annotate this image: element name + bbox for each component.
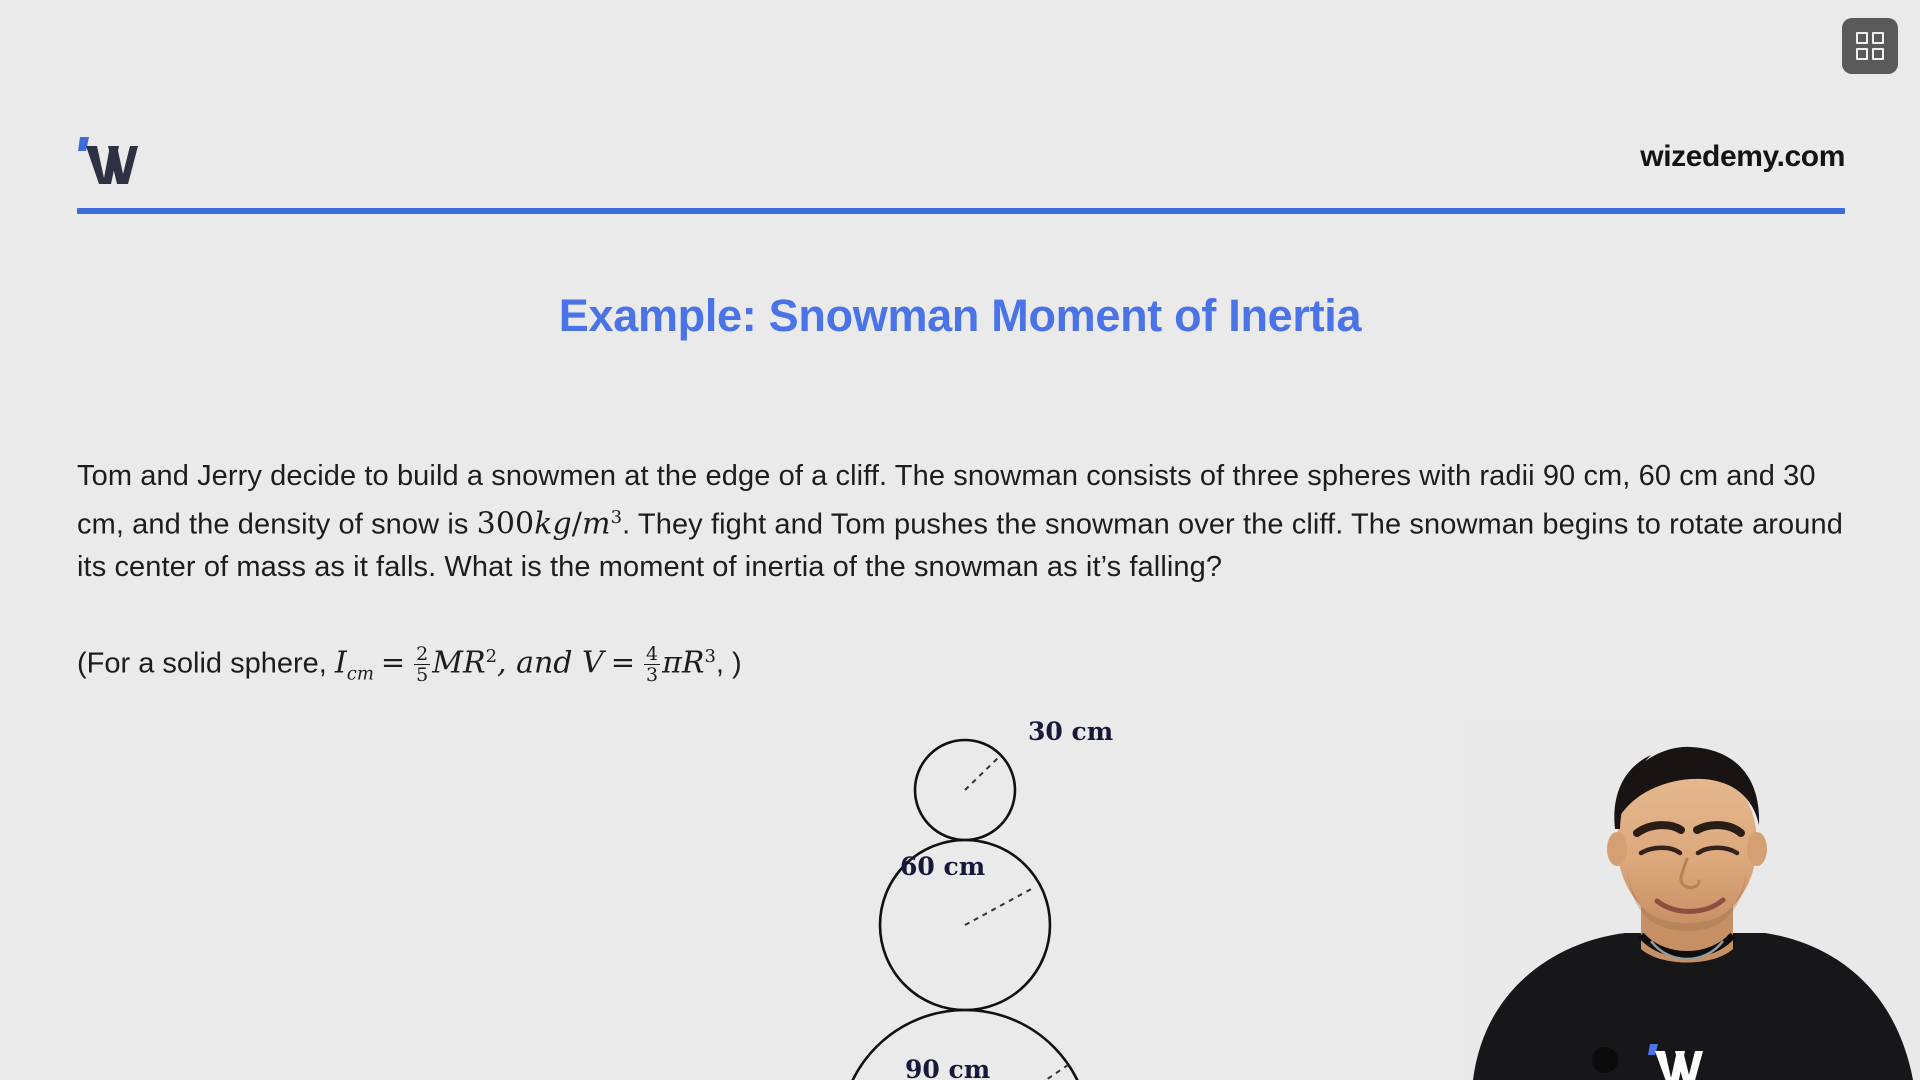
- problem-statement: Tom and Jerry decide to build a snowmen …: [77, 455, 1847, 588]
- density-unit-denominator: m: [582, 507, 611, 542]
- density-slash: /: [572, 507, 582, 542]
- formula-tail-text: , ): [716, 647, 742, 679]
- inertia-fraction-numerator: 2: [414, 644, 430, 665]
- dimension-label-60cm: 60 cm: [900, 852, 985, 881]
- inertia-exponent: 2: [486, 646, 497, 667]
- lecture-slide: wizedemy.com Example: Snowman Moment of …: [0, 0, 1920, 1080]
- shirt-wizedemy-w-logo-icon: [1643, 1042, 1713, 1080]
- volume-exponent: 3: [704, 646, 715, 667]
- density-unit-numerator: kg: [534, 507, 572, 542]
- inertia-fraction: 25: [414, 644, 430, 686]
- page-title: Example: Snowman Moment of Inertia: [0, 290, 1920, 342]
- formula-lead-text: (For a solid sphere,: [77, 647, 335, 679]
- volume-body: R: [682, 645, 705, 680]
- wizedemy-w-logo-icon: [77, 134, 139, 186]
- slide-body: Tom and Jerry decide to build a snowmen …: [77, 455, 1847, 695]
- volume-fraction-denominator: 3: [644, 664, 660, 686]
- volume-fraction: 43: [644, 644, 660, 686]
- density-value: 300: [477, 507, 535, 542]
- formula-conjunction: , and: [497, 645, 582, 680]
- dimension-label-90cm: 90 cm: [905, 1055, 990, 1080]
- inertia-subscript: cm: [347, 663, 374, 684]
- grid-2x2-icon: [1856, 32, 1884, 60]
- volume-fraction-numerator: 4: [644, 644, 660, 665]
- grid-view-button[interactable]: [1842, 18, 1898, 74]
- slide-header: wizedemy.com: [77, 128, 1845, 220]
- radius-line-medium: [965, 887, 1035, 925]
- volume-equals-sign: =: [611, 645, 635, 679]
- volume-symbol: V: [582, 645, 604, 680]
- dimension-label-30cm: 30 cm: [1028, 717, 1113, 746]
- presenter-figure: [1465, 717, 1920, 1080]
- inertia-equals-sign: =: [381, 645, 405, 679]
- reference-formulas: (For a solid sphere, Icm=25MR2, and V=43…: [77, 636, 1847, 695]
- inertia-symbol: I: [335, 645, 347, 680]
- snowman-diagram: 30 cm 60 cm 90 cm: [830, 715, 1150, 1080]
- radius-line-small: [965, 755, 1001, 790]
- site-name-label: wizedemy.com: [1640, 140, 1845, 174]
- density-exponent: 3: [611, 507, 623, 528]
- header-divider: [77, 208, 1845, 214]
- inertia-body: MR: [432, 645, 485, 680]
- inertia-fraction-denominator: 5: [414, 664, 430, 686]
- presenter-video-overlay[interactable]: [1465, 717, 1920, 1080]
- volume-pi-symbol: π: [662, 645, 682, 680]
